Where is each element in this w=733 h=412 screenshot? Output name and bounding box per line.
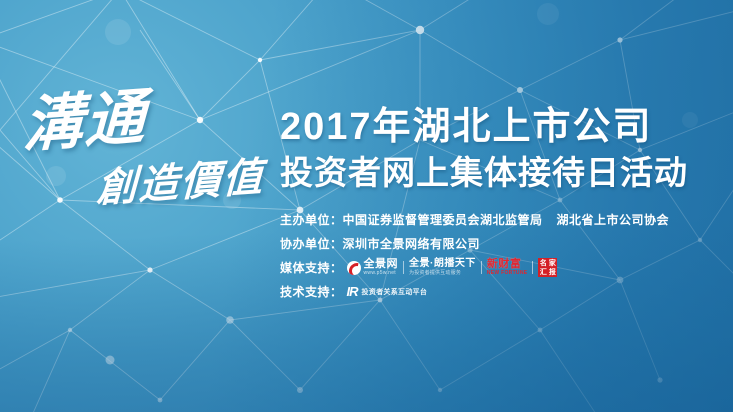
seal-logo[interactable]: 名 家 汇 报 <box>538 258 557 277</box>
organizer-value-2: 湖北省上市公司协会 <box>557 211 670 228</box>
media-support-label: 媒体支持： <box>280 259 343 276</box>
p5w-logo-text: 全景网 www.p5w.net <box>364 259 399 276</box>
organizer-row: 主办单位： 中国证券监督管理委员会湖北监管局 湖北省上市公司协会 <box>280 210 720 229</box>
poster-content: 2017年湖北上市公司 投资者网上集体接待日活动 主办单位： 中国证券监督管理委… <box>280 104 720 306</box>
tech-support-row: 技术支持： IR 投资者关系互动平台 <box>280 282 720 301</box>
seal-logo-char: 汇 <box>539 268 547 276</box>
media-logo-strip: 全景网 www.p5w.net 全景·朗播天下 为投资者提供互动服务 新财富 N… <box>347 258 558 277</box>
logo-divider <box>481 261 482 274</box>
media-support-row: 媒体支持： 全景网 www.p5w.net 全景·朗播天下 为投资者提供互动服务 <box>280 258 720 277</box>
organizer-label: 主办单位： <box>280 211 343 228</box>
slogan-logo-sub: 为投资者提供互动服务 <box>409 271 476 276</box>
co-organizer-label: 协办单位： <box>280 235 343 252</box>
p5w-logo[interactable]: 全景网 www.p5w.net <box>347 259 399 276</box>
slogan-logo[interactable]: 全景·朗播天下 为投资者提供互动服务 <box>409 259 476 276</box>
ir-logo[interactable]: IR 投资者关系互动平台 <box>347 284 428 299</box>
organizer-value-1: 中国证券监督管理委员会湖北监管局 <box>343 211 543 228</box>
p5w-logo-cn: 全景网 <box>364 259 399 270</box>
slogan-logo-main: 全景·朗播天下 <box>409 259 476 269</box>
new-fortune-logo-en: NEW FORTUNE <box>487 271 528 276</box>
calligraphy-line-1: 溝通 <box>22 79 270 156</box>
co-organizer-value: 深圳市全景网络有限公司 <box>343 235 481 252</box>
headline-line-2: 投资者网上集体接待日活动 <box>280 152 720 194</box>
seal-logo-char: 报 <box>548 268 556 276</box>
new-fortune-logo[interactable]: 新财富 NEW FORTUNE <box>487 259 528 276</box>
calligraphy-artwork: 溝通 創造價值 <box>18 96 268 236</box>
logo-divider <box>532 261 533 274</box>
co-organizer-row: 协办单位： 深圳市全景网络有限公司 <box>280 234 720 253</box>
event-poster: 溝通 創造價值 2017年湖北上市公司 投资者网上集体接待日活动 主办单位： 中… <box>0 0 733 412</box>
new-fortune-logo-cn: 新财富 <box>487 259 528 270</box>
credits-block: 主办单位： 中国证券监督管理委员会湖北监管局 湖北省上市公司协会 协办单位： 深… <box>280 210 720 301</box>
calligraphy-line-2: 創造價值 <box>96 156 269 210</box>
seal-logo-char: 家 <box>548 259 556 267</box>
p5w-logo-en: www.p5w.net <box>364 271 399 276</box>
swoosh-circle-icon <box>347 261 361 275</box>
logo-divider <box>403 261 404 274</box>
tech-support-label: 技术支持： <box>280 283 343 300</box>
ir-logo-mark: IR <box>347 284 358 299</box>
headline-line-1: 2017年湖北上市公司 <box>280 104 720 150</box>
seal-logo-char: 名 <box>539 259 547 267</box>
ir-logo-text: 投资者关系互动平台 <box>362 287 428 297</box>
